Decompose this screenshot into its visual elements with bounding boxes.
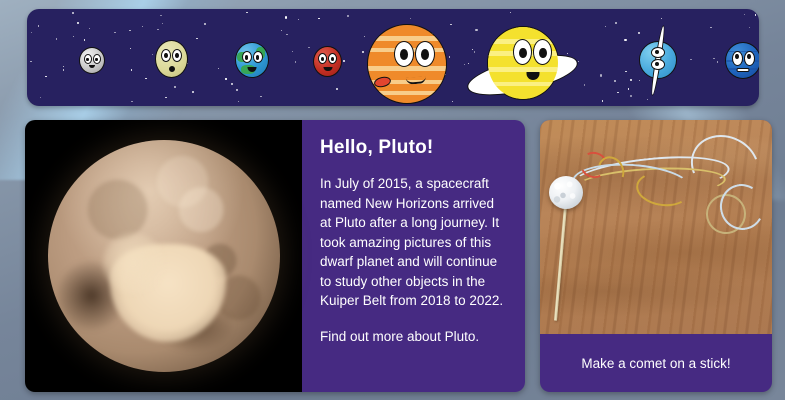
- eye: [513, 39, 532, 65]
- uranus-eyes: [640, 47, 676, 70]
- eye: [533, 39, 552, 65]
- eye: [651, 59, 665, 70]
- pluto-card: Hello, Pluto! In July of 2015, a spacecr…: [25, 120, 525, 392]
- pluto-text-panel: Hello, Pluto! In July of 2015, a spacecr…: [302, 120, 525, 392]
- eye: [651, 47, 665, 58]
- find-out-more-link[interactable]: Find out more about Pluto.: [320, 327, 505, 347]
- pluto-heart-region: [103, 233, 163, 293]
- pluto-description: In July of 2015, a spacecraft named New …: [320, 174, 505, 346]
- comet-card[interactable]: Make a comet on a stick!: [540, 120, 772, 392]
- pluto-disc-image: [48, 140, 280, 372]
- comet-photo: [540, 120, 772, 334]
- page-title: Hello, Pluto!: [320, 137, 505, 159]
- comet-caption[interactable]: Make a comet on a stick!: [540, 334, 772, 392]
- paragraph-intro: In July of 2015, a spacecraft named New …: [320, 174, 505, 311]
- comet-foam-ball: [549, 176, 583, 209]
- pluto-photo: [25, 120, 302, 392]
- saturn-eyes: [488, 39, 558, 65]
